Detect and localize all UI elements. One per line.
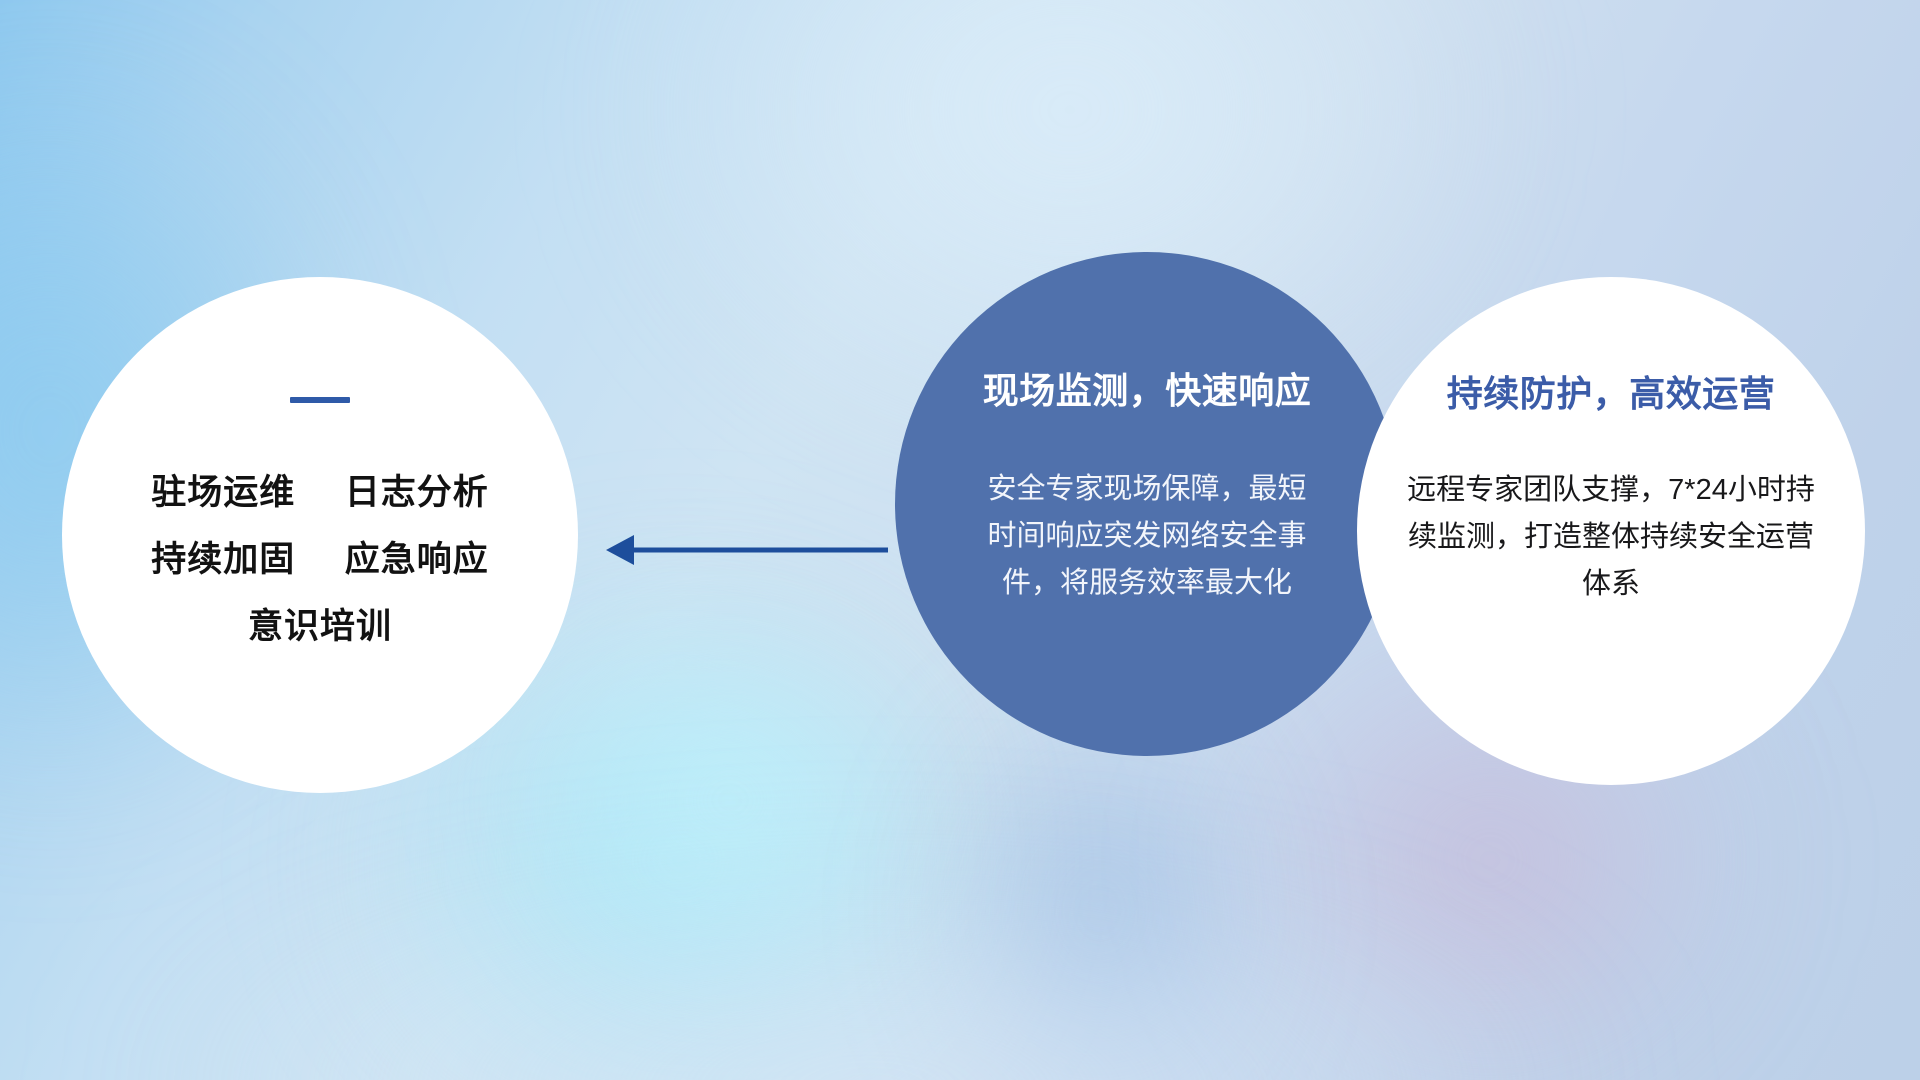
list-item: 持续加固 应急响应: [151, 526, 489, 593]
left-circle-divider: [290, 397, 350, 403]
arrow-left-icon: [600, 520, 890, 580]
list-item: 意识培训: [151, 593, 489, 660]
middle-circle-body: 安全专家现场保障，最短时间响应突发网络安全事件，将服务效率最大化: [982, 466, 1312, 607]
right-circle-title: 持续防护，高效运营: [1447, 365, 1776, 417]
middle-circle-content: 现场监测，快速响应 安全专家现场保障，最短时间响应突发网络安全事件，将服务效率最…: [895, 252, 1399, 756]
slide-canvas: 驻场运维 日志分析 持续加固 应急响应 意识培训 现场监测，快速响应 安全专家现…: [0, 0, 1920, 1080]
keyword-awareness-training: 意识培训: [248, 607, 392, 646]
right-circle-body: 远程专家团队支撑，7*24小时持续监测，打造整体持续安全运营体系: [1401, 467, 1821, 608]
right-circle-content: 持续防护，高效运营 远程专家团队支撑，7*24小时持续监测，打造整体持续安全运营…: [1357, 277, 1865, 785]
middle-circle-title: 现场监测，快速响应: [983, 362, 1312, 414]
left-circle-keyword-list: 驻场运维 日志分析 持续加固 应急响应 意识培训: [151, 459, 489, 660]
keyword-continuous-hardening: 持续加固: [151, 540, 295, 579]
left-circle-content: 驻场运维 日志分析 持续加固 应急响应 意识培训: [62, 277, 578, 793]
list-item: 驻场运维 日志分析: [151, 459, 489, 526]
keyword-log-analysis: 日志分析: [345, 473, 489, 512]
keyword-onsite-ops: 驻场运维: [151, 473, 295, 512]
keyword-emergency-response: 应急响应: [345, 540, 489, 579]
